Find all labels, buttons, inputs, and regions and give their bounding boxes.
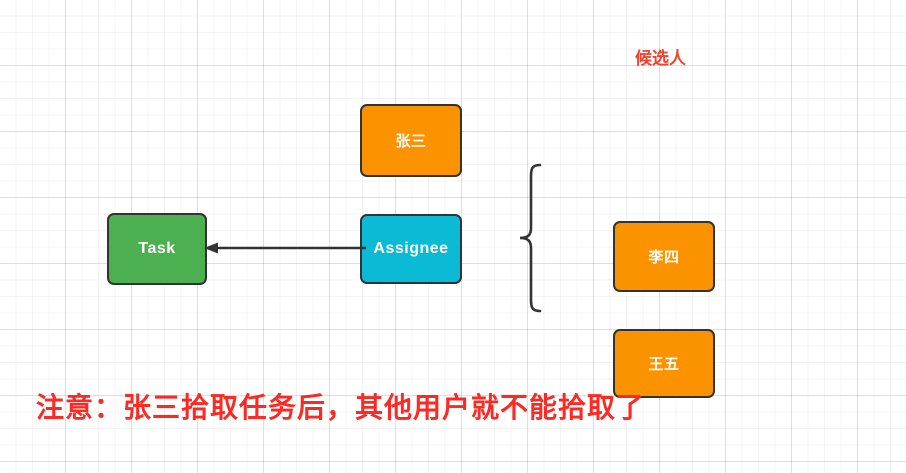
node-zhangsan[interactable]: 张三 — [360, 104, 462, 177]
arrowhead-icon — [204, 243, 218, 254]
node-wangwu-label: 王五 — [648, 353, 679, 374]
node-assignee[interactable]: Assignee — [360, 214, 462, 284]
brace-path — [520, 165, 540, 311]
node-lisi-label: 李四 — [648, 246, 679, 267]
node-task[interactable]: Task — [107, 213, 207, 285]
node-zhangsan-label: 张三 — [395, 130, 426, 151]
candidates-brace-icon — [512, 160, 552, 316]
note-text: 注意：张三拾取任务后，其他用户就不能拾取了 — [36, 386, 645, 426]
diagram-canvas[interactable]: 候选人 张三 Task Assignee 李四 王五 注意：张三拾取任务后，其他… — [0, 0, 906, 473]
candidates-label: 候选人 — [635, 44, 686, 69]
edge-assignee-to-task[interactable] — [200, 228, 366, 268]
node-lisi[interactable]: 李四 — [613, 221, 715, 292]
node-task-label: Task — [138, 240, 175, 258]
node-assignee-label: Assignee — [373, 240, 448, 258]
